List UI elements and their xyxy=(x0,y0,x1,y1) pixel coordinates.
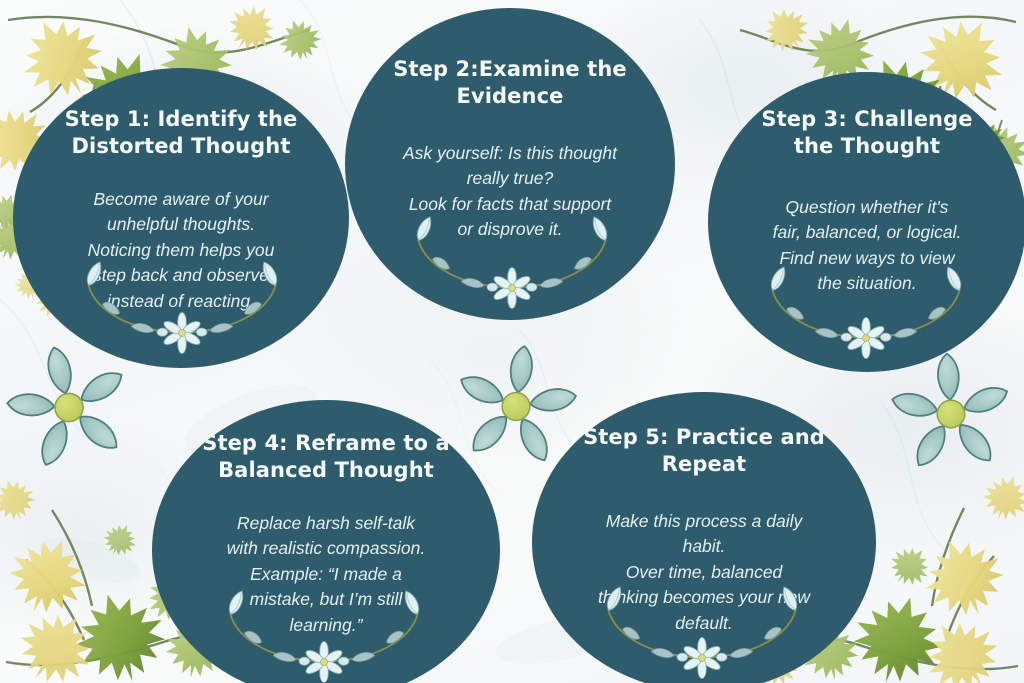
step-3-title: Step 3: Challenge the Thought xyxy=(749,106,984,161)
step-1-body: Become aware of your unhelpful thoughts.… xyxy=(47,187,316,315)
step-4-body: Replace harsh self-talk with realistic c… xyxy=(187,511,465,639)
step-5-title: Step 5: Practice and Repeat xyxy=(577,424,832,479)
step-card-2[interactable]: Step 2:Examine the Evidence Ask yourself… xyxy=(345,8,675,320)
step-card-5[interactable]: Step 5: Practice and Repeat Make this pr… xyxy=(532,392,876,683)
step-2-body: Ask yourself: Is this thought really tru… xyxy=(378,141,642,243)
step-3-body: Question whether it's fair, balanced, or… xyxy=(740,195,994,297)
step-card-3[interactable]: Step 3: Challenge the Thought Question w… xyxy=(708,72,1024,372)
step-1-title: Step 1: Identify the Distorted Thought xyxy=(57,106,306,161)
step-5-body: Make this process a daily habit. Over ti… xyxy=(566,509,841,637)
step-card-4[interactable]: Step 4: Reframe to a Balanced Thought Re… xyxy=(152,400,500,683)
step-card-1[interactable]: Step 1: Identify the Distorted Thought B… xyxy=(13,68,349,368)
step-2-title: Step 2:Examine the Evidence xyxy=(388,56,632,111)
infographic-canvas: Step 1: Identify the Distorted Thought B… xyxy=(0,0,1024,683)
step-4-title: Step 4: Reframe to a Balanced Thought xyxy=(197,430,455,485)
